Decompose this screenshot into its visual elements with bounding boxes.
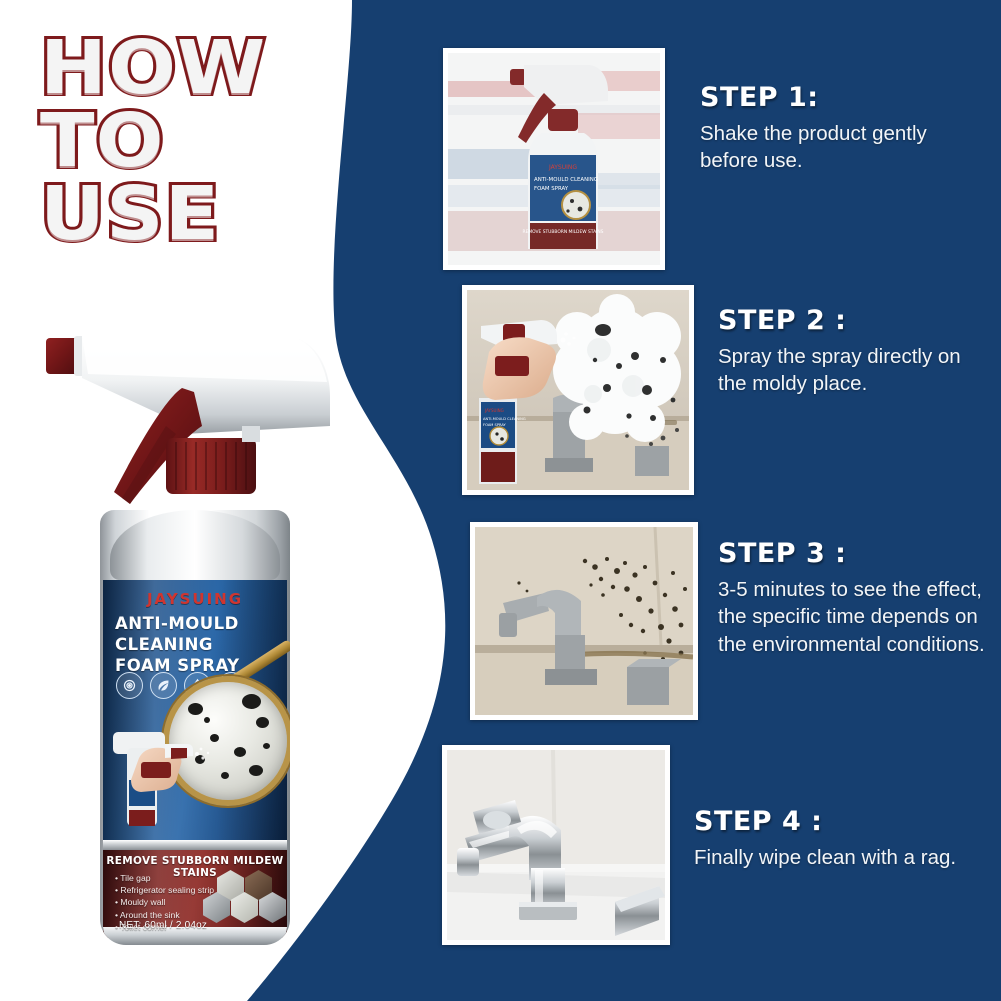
page-title: HOW TO USE <box>40 34 340 252</box>
svg-text:ANTI-MOULD CLEANING: ANTI-MOULD CLEANING <box>483 417 526 421</box>
clean-chrome-faucet-photo <box>447 750 665 940</box>
brand-name: JAYSUING <box>103 590 287 608</box>
product-bottle-motion-blur-photo: JAYSUING ANTI-MOULD CLEANING FOAM SPRAY … <box>448 53 660 265</box>
step-4-title: STEP 4 : <box>694 806 984 837</box>
step-4-body: Finally wipe clean with a rag. <box>694 844 984 871</box>
step-4-text: STEP 4 : Finally wipe clean with a rag. <box>694 806 984 871</box>
hand-spraying-foam-on-faucet-photo: JAYSUING ANTI-MOULD CLEANING FOAM SPRAY <box>467 290 689 490</box>
bottle-label-blue: JAYSUING ANTI-MOULD CLEANING FOAM SPRAY <box>103 580 287 842</box>
trigger-sprayer-head <box>44 330 344 510</box>
step-1-body: Shake the product gently before use. <box>700 120 980 175</box>
bottle-body: JAYSUING ANTI-MOULD CLEANING FOAM SPRAY <box>100 510 290 945</box>
product-name-line1: ANTI-MOULD CLEANING <box>115 614 279 656</box>
list-item: Around the sink <box>115 909 214 921</box>
step-1-photo-frame: JAYSUING ANTI-MOULD CLEANING FOAM SPRAY … <box>443 48 665 270</box>
net-weight: NET: 60ml / 2.04oz <box>119 920 207 931</box>
hand-spraying-illustration <box>109 718 221 836</box>
svg-text:FOAM SPRAY: FOAM SPRAY <box>483 423 507 427</box>
step-3-photo-frame <box>470 522 698 720</box>
leaf-icon <box>150 672 177 699</box>
title-line-1: HOW <box>40 34 364 103</box>
bottle-shoulder <box>110 510 280 580</box>
use-case-thumbnails <box>209 870 281 928</box>
svg-text:JAYSUING: JAYSUING <box>484 408 504 413</box>
step-2-body: Spray the spray directly on the moldy pl… <box>718 343 990 398</box>
title-line-2: TO <box>40 107 364 176</box>
bottle-label-red: REMOVE STUBBORN MILDEW STAINS Tile gap R… <box>103 850 287 938</box>
infographic-root: HOW TO USE <box>0 0 1001 1001</box>
step-2-text: STEP 2 : Spray the spray directly on the… <box>718 305 990 398</box>
list-item: Refrigerator sealing strip <box>115 884 214 896</box>
product-bottle-illustration: JAYSUING ANTI-MOULD CLEANING FOAM SPRAY <box>44 330 344 945</box>
step-3-text: STEP 3 : 3-5 minutes to see the effect, … <box>718 538 998 658</box>
list-item: Mouldy wall <box>115 896 214 908</box>
step-2-title: STEP 2 : <box>718 305 990 336</box>
list-item: Tile gap <box>115 872 214 884</box>
step-1-title: STEP 1: <box>700 82 980 113</box>
step-4-photo-frame <box>442 745 670 945</box>
step-3-body: 3-5 minutes to see the effect, the speci… <box>718 576 998 658</box>
step-3-title: STEP 3 : <box>718 538 998 569</box>
moldy-faucet-tile-photo <box>475 527 693 715</box>
step-2-photo-frame: JAYSUING ANTI-MOULD CLEANING FOAM SPRAY <box>462 285 694 495</box>
step-1-text: STEP 1: Shake the product gently before … <box>700 82 980 175</box>
title-line-3: USE <box>40 180 364 249</box>
target-icon <box>116 672 143 699</box>
